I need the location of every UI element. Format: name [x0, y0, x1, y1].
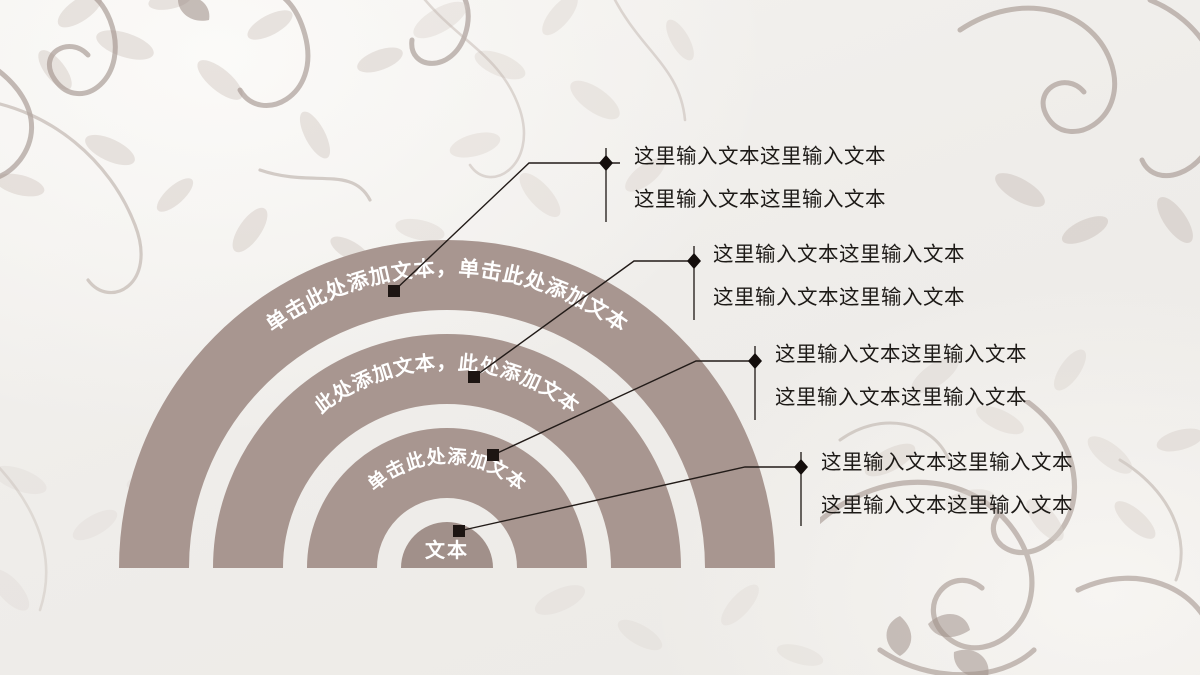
- callout-3-line-1: 这里输入文本这里输入文本: [775, 344, 1027, 365]
- callout-2-text-block[interactable]: 这里输入文本这里输入文本 这里输入文本这里输入文本: [713, 244, 965, 307]
- callout-2-line-1: 这里输入文本这里输入文本: [713, 244, 965, 265]
- callout-3-text-block[interactable]: 这里输入文本这里输入文本 这里输入文本这里输入文本: [775, 344, 1027, 407]
- ring-4-label: 文本: [425, 538, 469, 562]
- callout-2-line-2: 这里输入文本这里输入文本: [713, 287, 965, 308]
- callout-4-line-1: 这里输入文本这里输入文本: [821, 452, 1073, 473]
- callout-1-text-block[interactable]: 这里输入文本这里输入文本 这里输入文本这里输入文本: [634, 146, 886, 209]
- callout-1-line-1: 这里输入文本这里输入文本: [634, 146, 886, 167]
- callout-4-line-2: 这里输入文本这里输入文本: [821, 495, 1073, 516]
- slide-canvas: 单击此处添加文本，单击此处添加文本 此处添加文本，此处添加文本 单击此处添加文本…: [0, 0, 1200, 675]
- callout-4-text-block[interactable]: 这里输入文本这里输入文本 这里输入文本这里输入文本: [821, 452, 1073, 515]
- concentric-semicircle-diagram: 单击此处添加文本，单击此处添加文本 此处添加文本，此处添加文本 单击此处添加文本…: [0, 0, 1200, 675]
- callout-3-line-2: 这里输入文本这里输入文本: [775, 387, 1027, 408]
- callout-1-line-2: 这里输入文本这里输入文本: [634, 189, 886, 210]
- ring-group: [154, 275, 740, 675]
- ring-4-core: [401, 522, 493, 614]
